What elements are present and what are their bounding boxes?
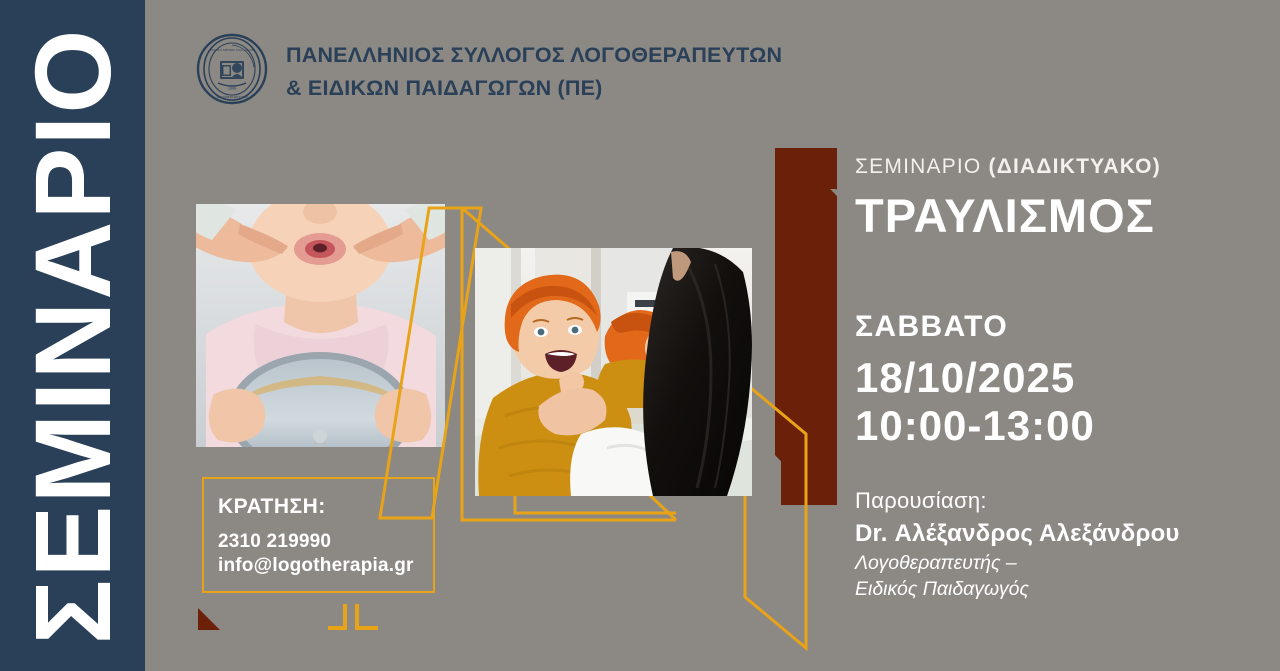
maroon-triangle-accent [198, 608, 220, 630]
booking-phone[interactable]: 2310 219990 [218, 530, 433, 554]
left-sidebar-banner: ΣΕΜΙΝΑΡΙΟ [0, 0, 145, 671]
photo2-illustration [475, 248, 752, 496]
presenter-label: Παρουσίαση: [855, 488, 987, 514]
maroon-slab-left [775, 148, 837, 505]
photo-child-mirror-therapy [475, 248, 752, 496]
presenter-role-line2: Ειδικός Παιδαγωγός [855, 578, 1029, 601]
event-time: 10:00-13:00 [855, 400, 1095, 453]
booking-info-box: ΚΡΑΤΗΣΗ: 2310 219990 info@logotherapia.g… [202, 477, 435, 593]
maroon-slab-right [791, 152, 837, 505]
seminar-kicker: ΣΕΜΙΝΑΡΙΟ (ΔΙΑΔΙΚΤΥΑΚΟ) [855, 155, 1161, 179]
gold-corner-mark-2 [357, 604, 378, 628]
header: 1999 ΠΑΝΕΛΛΗΝΙΟΣ ΣΥΛΛΟΓΟΣ ΛΟΓΟΘΕΡΑΠΕΥΤΩΝ… [196, 33, 782, 105]
booking-title: ΚΡΑΤΗΣΗ: [218, 495, 433, 518]
presenter-name: Dr. Αλέξανδρος Αλεξάνδρου [855, 520, 1180, 548]
org-title-line1: ΠΑΝΕΛΛΗΝΙΟΣ ΣΥΛΛΟΓΟΣ ΛΟΓΟΘΕΡΑΠΕΥΤΩΝ [286, 43, 782, 67]
seal-logo-icon: 1999 ΠΑΝΕΛΛΗΝΙΟΣ ΣΥΛΛΟΓΟΣ ΛΟΓΟΘΕΡΑΠΕΥΤΩΝ [196, 33, 268, 105]
presenter-role-line1: Λογοθεραπευτής – [855, 552, 1017, 575]
maroon-band-shape [790, 148, 837, 505]
event-day: ΣΑΒΒΑΤΟ [855, 310, 1008, 343]
svg-text:1999: 1999 [228, 86, 236, 91]
maroon-triangle-top [791, 148, 837, 190]
photo1-illustration [196, 204, 445, 447]
svg-text:ΛΟΓΟΘΕΡΑΠΕΥΤΩΝ: ΛΟΓΟΘΕΡΑΠΕΥΤΩΝ [216, 95, 248, 99]
event-date: 18/10/2025 [855, 352, 1075, 405]
event-details-column: ΣΕΜΙΝΑΡΙΟ (ΔΙΑΔΙΚΤΥΑΚΟ) ΤΡΑΥΛΙΣΜΟΣ ΣΑΒΒΑ… [855, 0, 1275, 671]
svg-text:ΠΑΝΕΛΛΗΝΙΟΣ ΣΥΛΛΟΓΟΣ: ΠΑΝΕΛΛΗΝΙΟΣ ΣΥΛΛΟΓΟΣ [210, 48, 253, 52]
association-seal-logo: 1999 ΠΑΝΕΛΛΗΝΙΟΣ ΣΥΛΛΟΓΟΣ ΛΟΓΟΘΕΡΑΠΕΥΤΩΝ [196, 33, 268, 105]
seminar-poster: ΣΕΜΙΝΑΡΙΟ [0, 0, 1280, 671]
organization-title: ΠΑΝΕΛΛΗΝΙΟΣ ΣΥΛΛΟΓΟΣ ΛΟΓΟΘΕΡΑΠΕΥΤΩΝ & ΕΙ… [286, 33, 782, 104]
kicker-bold-text: (ΔΙΑΔΙΚΤΥΑΚΟ) [989, 155, 1161, 178]
maroon-triangle-bbox [198, 608, 220, 630]
photo-child-lip-exercise [196, 204, 445, 447]
kicker-plain-text: ΣΕΜΙΝΑΡΙΟ [855, 155, 989, 178]
maroon-parallelogram-shape [781, 148, 837, 505]
gold-outline-parallelogram-right [745, 383, 806, 648]
sidebar-vertical-title: ΣΕΜΙΝΑΡΙΟ [19, 27, 127, 644]
page-title: ΤΡΑΥΛΙΣΜΟΣ [855, 190, 1155, 242]
booking-email[interactable]: info@logotherapia.gr [218, 554, 433, 578]
gold-corner-mark-1 [328, 604, 345, 628]
org-title-line2: & ΕΙΔΙΚΩΝ ΠΑΙΔΑΓΩΓΩΝ (ΠΕ) [286, 72, 782, 105]
